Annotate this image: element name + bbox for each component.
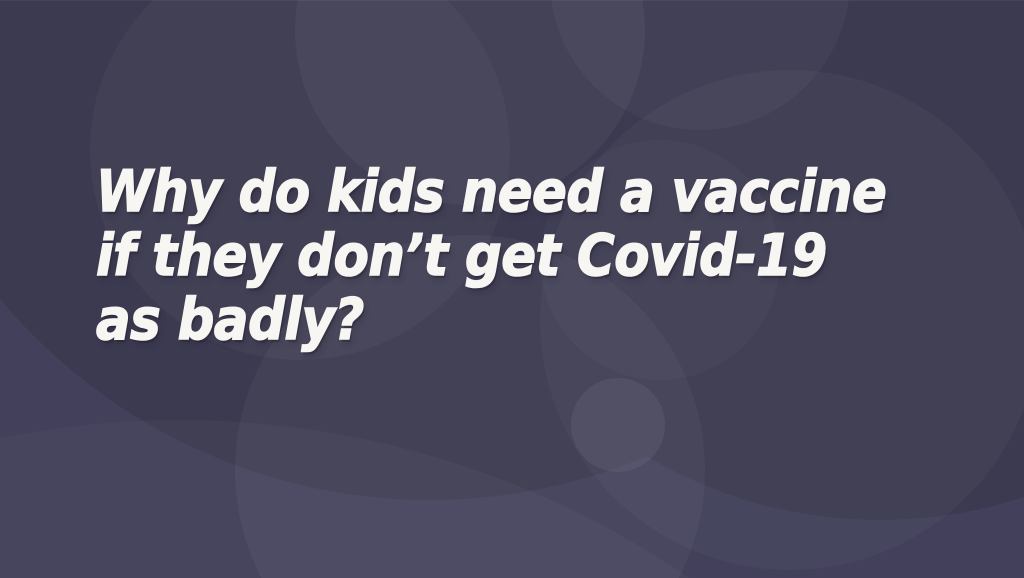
headline-line-3: as badly? [96,288,870,352]
headline-line-2: if they don’t get Covid-19 [96,224,870,288]
slide-canvas: Why do kids need a vaccine if they don’t… [0,0,1024,578]
background-circle-small-accent [571,378,665,472]
headline-line-1: Why do kids need a vaccine [96,160,870,224]
page-title: Why do kids need a vaccine if they don’t… [96,160,956,352]
